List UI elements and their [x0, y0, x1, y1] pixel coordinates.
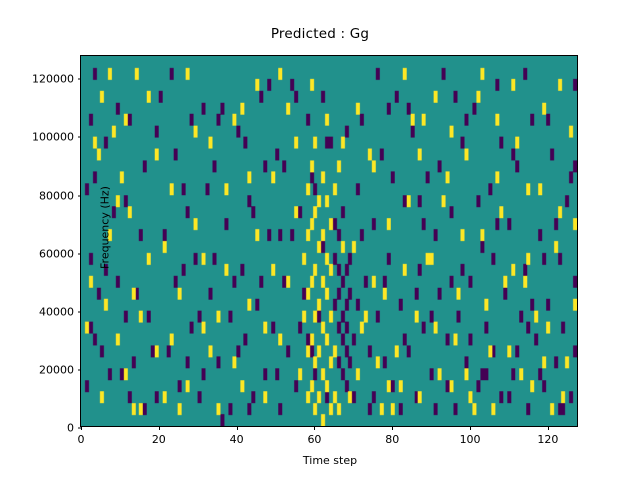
x-tick-mark: [548, 426, 549, 430]
x-tick-mark: [81, 426, 82, 430]
heatmap-canvas: [81, 56, 577, 426]
y-tick-label: 80000: [39, 189, 81, 202]
page-title: Predicted : Gg: [0, 26, 640, 42]
y-tick-mark: [78, 79, 82, 80]
x-tick-mark: [237, 426, 238, 430]
heatmap-axes: Frequency (Hz) Time step 020000400006000…: [80, 55, 578, 427]
y-tick-mark: [78, 369, 82, 370]
y-axis-label: Frequency (Hz): [99, 128, 112, 328]
y-tick-mark: [78, 195, 82, 196]
x-axis-label: Time step: [81, 454, 579, 467]
x-tick-mark: [159, 426, 160, 430]
y-tick-mark: [78, 137, 82, 138]
y-tick-label: 120000: [32, 73, 81, 86]
x-tick-mark: [314, 426, 315, 430]
y-tick-label: 100000: [32, 131, 81, 144]
y-tick-mark: [78, 311, 82, 312]
y-tick-label: 40000: [39, 305, 81, 318]
matplotlib-figure: Predicted : Gg Frequency (Hz) Time step …: [0, 0, 640, 480]
y-tick-mark: [78, 253, 82, 254]
y-tick-label: 20000: [39, 363, 81, 376]
x-tick-mark: [470, 426, 471, 430]
x-tick-mark: [392, 426, 393, 430]
y-tick-label: 60000: [39, 247, 81, 260]
